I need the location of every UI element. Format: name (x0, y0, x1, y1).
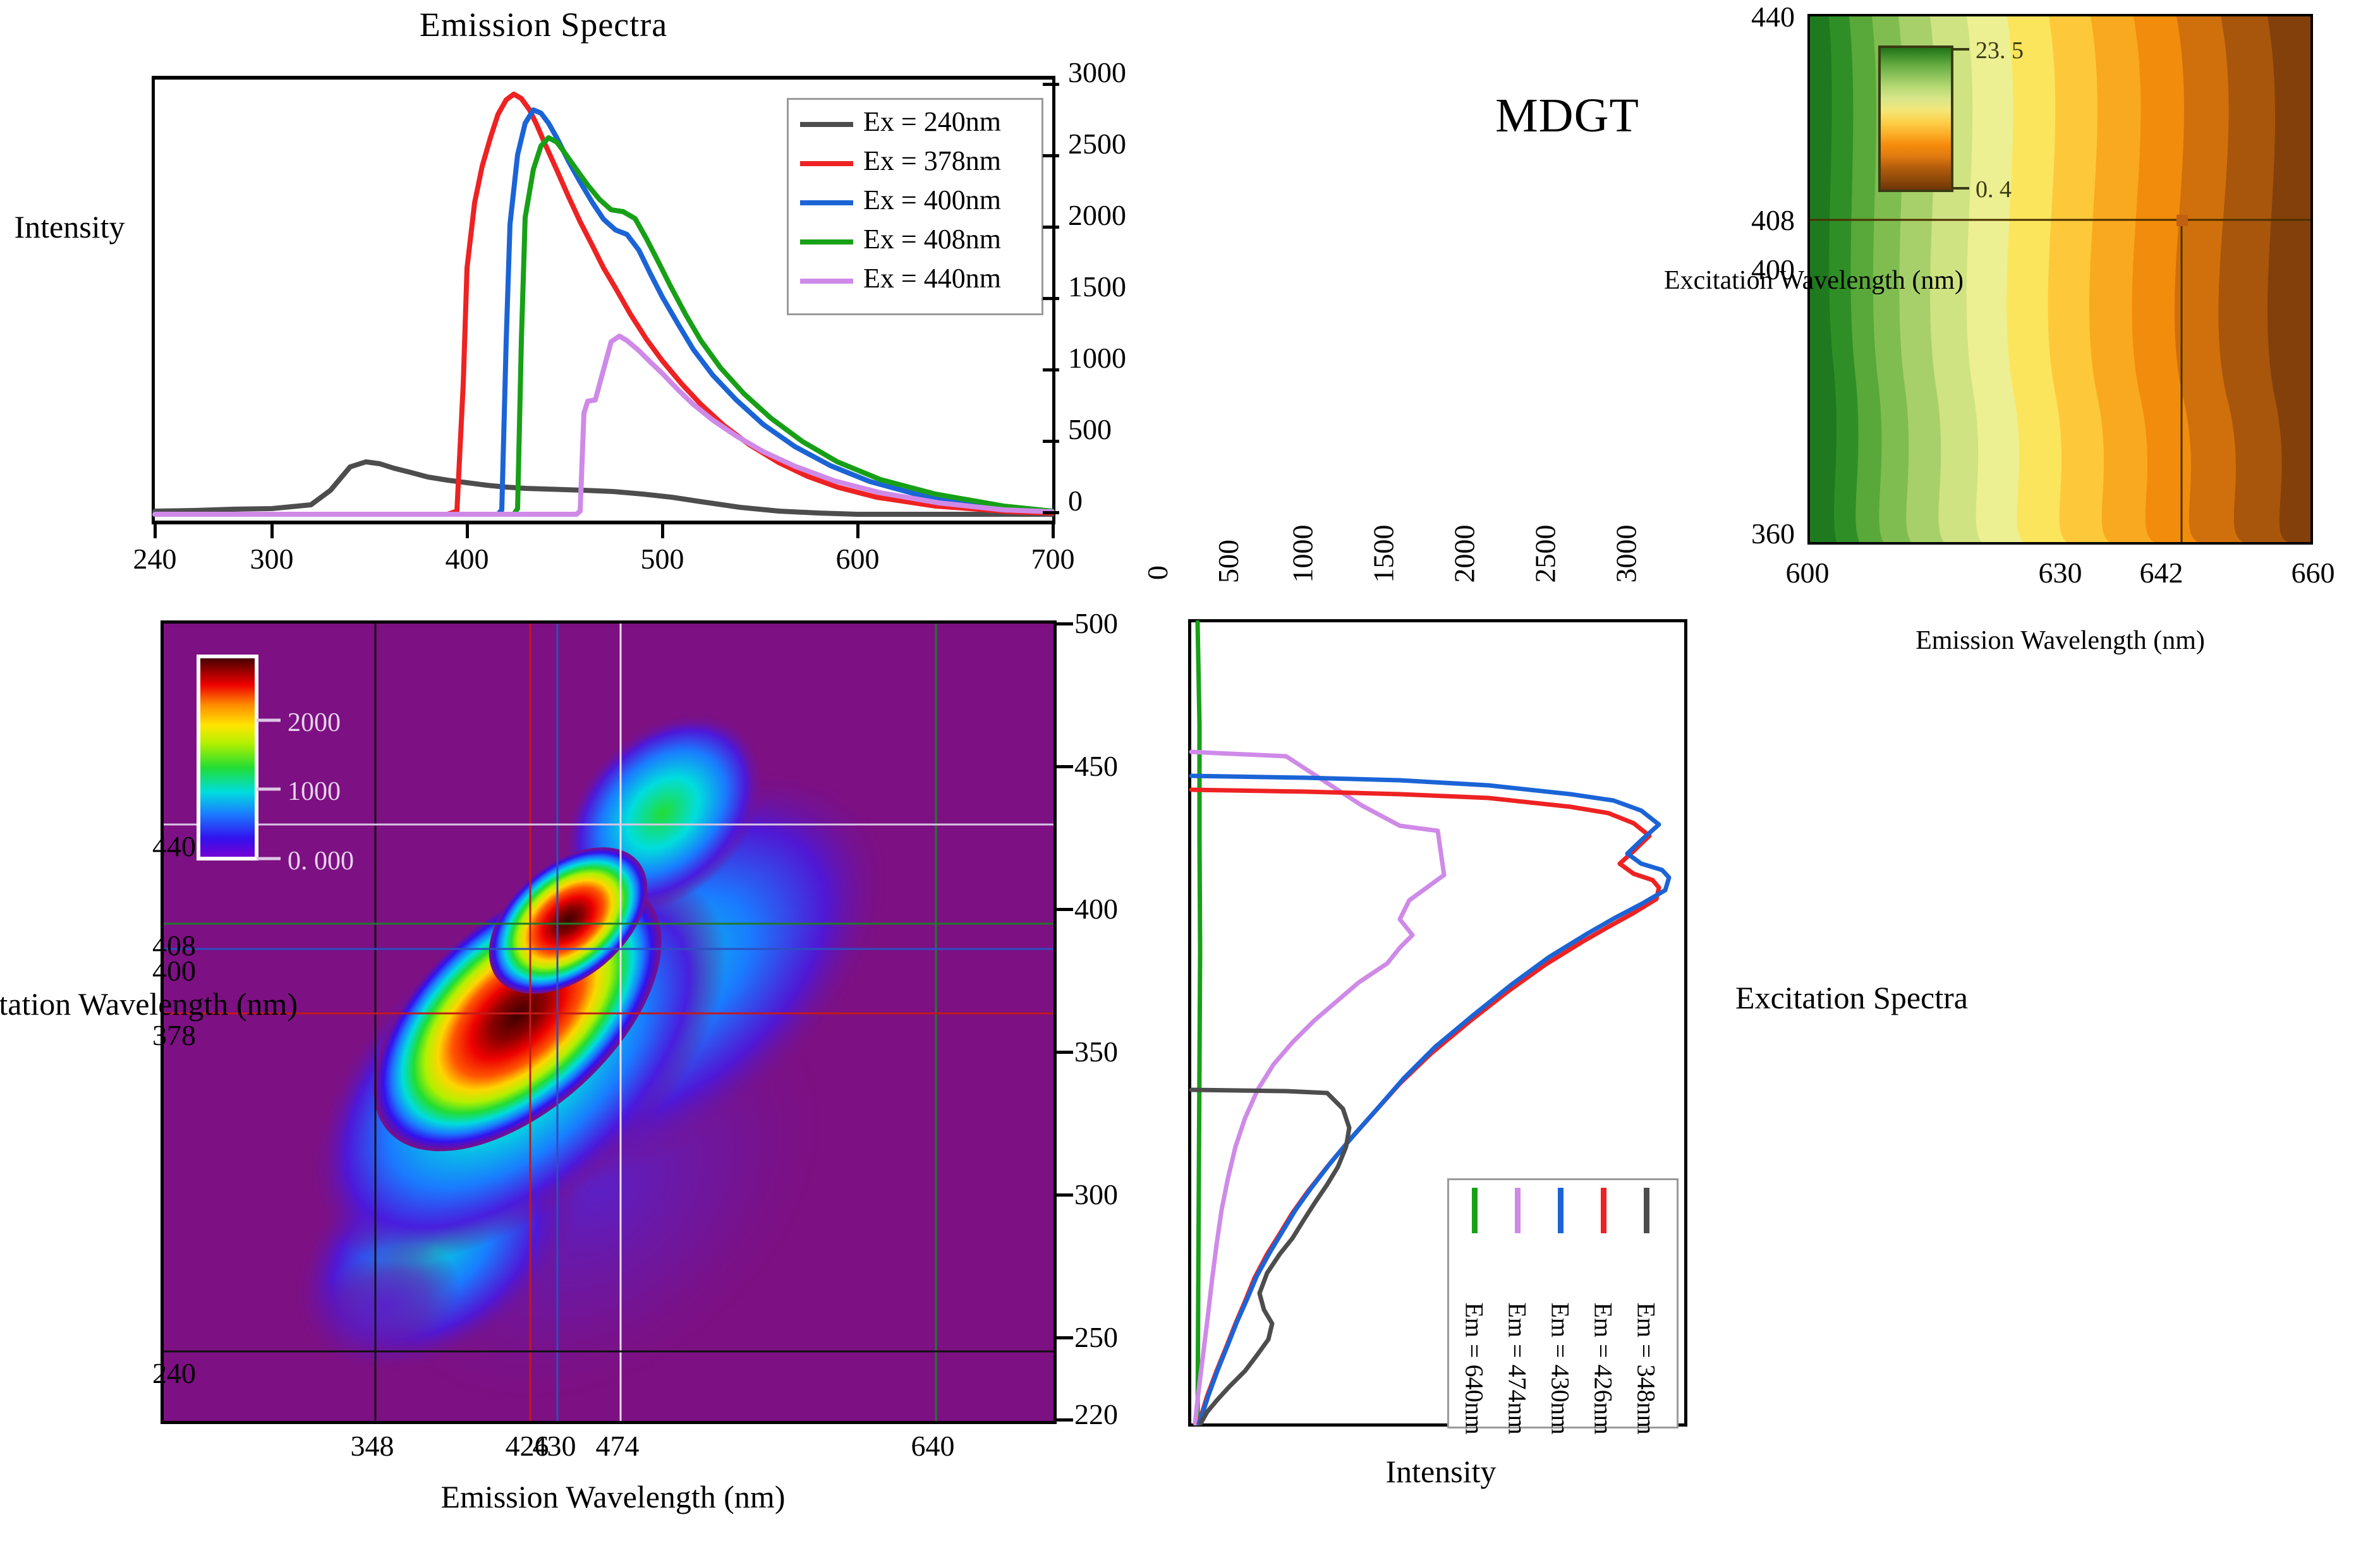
nir-y-axis-label: Excitation Wavelength (nm) (1593, 265, 2035, 296)
eem-x-axis-label: Emission Wavelength (nm) (145, 1478, 1081, 1515)
excitation-x-tick-labels: 0 500 1000 1500 2000 2500 3000 (1163, 499, 1719, 613)
legend-swatch-em348 (1644, 1188, 1649, 1233)
emission-legend: Ex = 240nm Ex = 378nm Ex = 400nm Ex = 40… (787, 98, 1043, 315)
excitation-legend: Em = 640nm Em = 474nm Em = 430nm Em = 42… (1447, 1178, 1679, 1428)
curve-em474 (1191, 752, 1444, 1423)
legend-swatch-em474 (1515, 1188, 1521, 1233)
nir-x-axis-label: Emission Wavelength (nm) (1807, 625, 2313, 656)
excitation-x-axis-label: Intensity (1251, 1453, 1630, 1490)
eem-contour-surface: 2000 1000 0. 000 (164, 624, 1053, 1421)
legend-item: Ex = 408nm (789, 220, 1041, 259)
svg-text:1000: 1000 (288, 777, 341, 806)
svg-text:0. 4: 0. 4 (1976, 176, 2012, 203)
legend-item: Ex = 440nm (789, 259, 1041, 298)
legend-swatch-em640 (1472, 1188, 1478, 1233)
legend-swatch-ex408 (800, 239, 853, 245)
eem-y-axis-label: Exitation Wavelength (nm) (0, 986, 411, 1022)
sample-title: MDGT (1409, 88, 1725, 143)
legend-swatch-ex400 (800, 200, 853, 205)
legend-item: Em = 348nm (1626, 1184, 1667, 1422)
svg-text:0. 000: 0. 000 (288, 847, 354, 876)
legend-item: Em = 426nm (1583, 1184, 1624, 1422)
svg-text:23. 5: 23. 5 (1976, 37, 2024, 64)
svg-text:2000: 2000 (288, 708, 341, 737)
legend-swatch-em426 (1601, 1188, 1606, 1233)
legend-item: Ex = 400nm (789, 181, 1041, 220)
legend-item: Em = 640nm (1454, 1184, 1495, 1422)
legend-item: Ex = 240nm (789, 102, 1041, 142)
curve-em640 (1198, 622, 1200, 1423)
excitation-panel-label: Excitation Spectra (1662, 979, 2041, 1016)
legend-swatch-ex378 (800, 161, 853, 166)
eem-contour-map: 2000 1000 0. 000 (161, 620, 1057, 1424)
legend-item: Ex = 378nm (789, 142, 1041, 181)
emission-panel-title: Emission Spectra (354, 5, 733, 44)
legend-swatch-ex440 (800, 279, 853, 284)
emission-y-axis-label: Intensity (0, 208, 177, 245)
legend-item: Em = 430nm (1540, 1184, 1581, 1422)
legend-swatch-ex240 (800, 122, 853, 127)
legend-swatch-em430 (1558, 1188, 1563, 1233)
legend-item: Em = 474nm (1497, 1184, 1538, 1422)
